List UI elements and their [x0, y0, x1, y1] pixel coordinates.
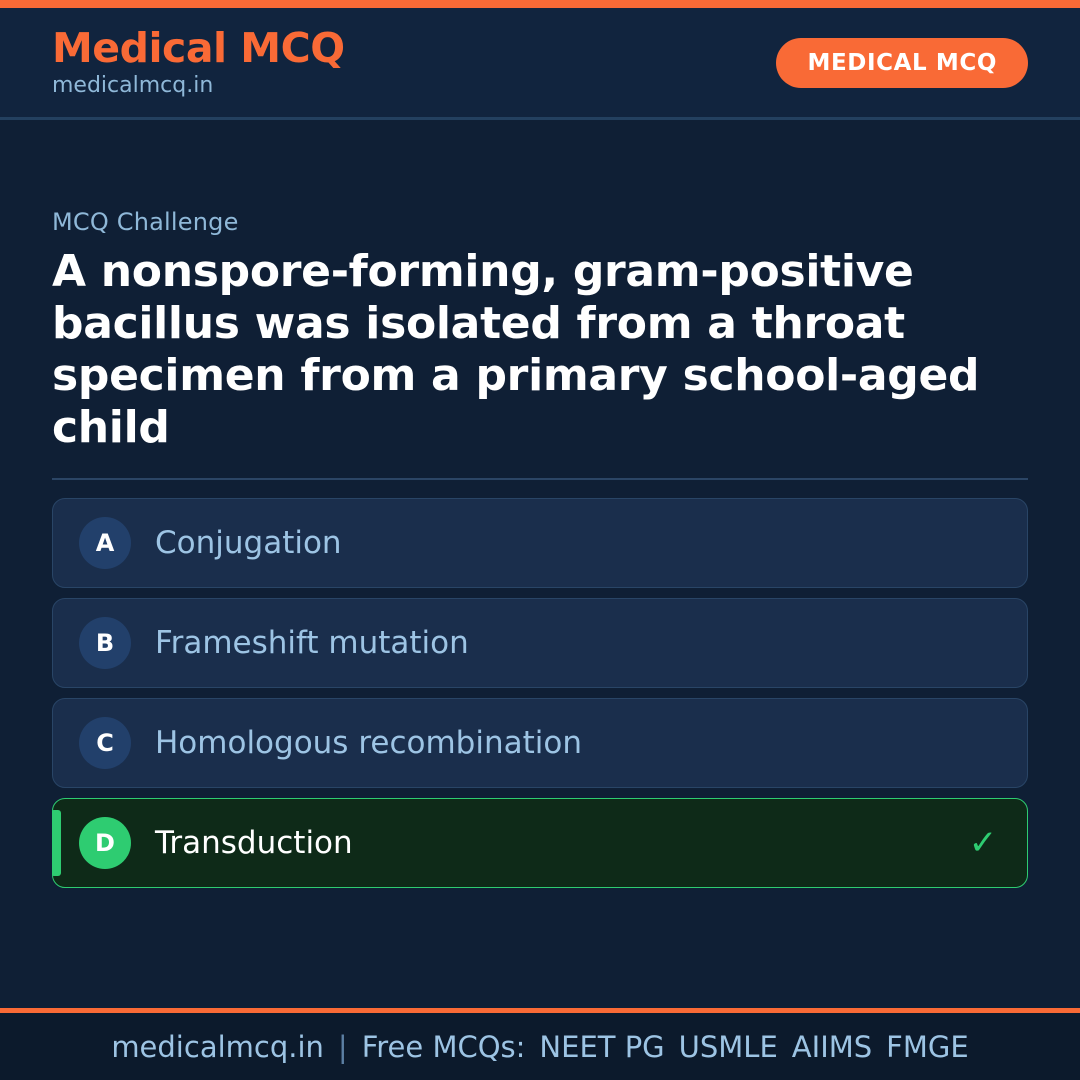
- brand-title: Medical MCQ: [52, 26, 345, 70]
- footer-content: medicalmcq.in | Free MCQs: NEET PG USMLE…: [111, 1030, 968, 1064]
- option-label: Transduction: [155, 826, 965, 860]
- option-d[interactable]: D Transduction ✓: [52, 798, 1028, 888]
- correct-accent-bar: [53, 810, 61, 876]
- options-list: A Conjugation B Frameshift mutation C Ho…: [52, 498, 1028, 888]
- footer-exam-neetpg: NEET PG: [539, 1030, 664, 1064]
- footer-exam-usmle: USMLE: [679, 1030, 778, 1064]
- option-letter-badge: B: [79, 617, 131, 669]
- footer: medicalmcq.in | Free MCQs: NEET PG USMLE…: [0, 1008, 1080, 1080]
- brand: Medical MCQ medicalmcq.in: [52, 26, 345, 100]
- option-b[interactable]: B Frameshift mutation: [52, 598, 1028, 688]
- header: Medical MCQ medicalmcq.in MEDICAL MCQ: [0, 8, 1080, 120]
- footer-label: Free MCQs:: [362, 1030, 526, 1064]
- main-content: MCQ Challenge A nonspore-forming, gram-p…: [0, 120, 1080, 1008]
- option-letter-badge: A: [79, 517, 131, 569]
- question-text: A nonspore-forming, gram-positive bacill…: [52, 246, 1028, 454]
- option-c[interactable]: C Homologous recombination: [52, 698, 1028, 788]
- footer-exams: NEET PG USMLE AIIMS FMGE: [539, 1030, 968, 1064]
- question-divider: [52, 478, 1028, 480]
- brand-subtitle: medicalmcq.in: [52, 72, 345, 100]
- check-icon: ✓: [965, 826, 1001, 860]
- option-label: Conjugation: [155, 526, 965, 560]
- option-label: Homologous recombination: [155, 726, 965, 760]
- option-label: Frameshift mutation: [155, 626, 965, 660]
- footer-separator: |: [338, 1030, 348, 1064]
- footer-site: medicalmcq.in: [111, 1030, 324, 1064]
- top-accent-bar: [0, 0, 1080, 8]
- footer-exam-fmge: FMGE: [886, 1030, 969, 1064]
- option-a[interactable]: A Conjugation: [52, 498, 1028, 588]
- option-letter-badge: C: [79, 717, 131, 769]
- footer-exam-aiims: AIIMS: [792, 1030, 872, 1064]
- brand-badge: MEDICAL MCQ: [776, 38, 1028, 88]
- mcq-card: Medical MCQ medicalmcq.in MEDICAL MCQ MC…: [0, 0, 1080, 1080]
- eyebrow-label: MCQ Challenge: [52, 208, 1028, 236]
- option-letter-badge: D: [79, 817, 131, 869]
